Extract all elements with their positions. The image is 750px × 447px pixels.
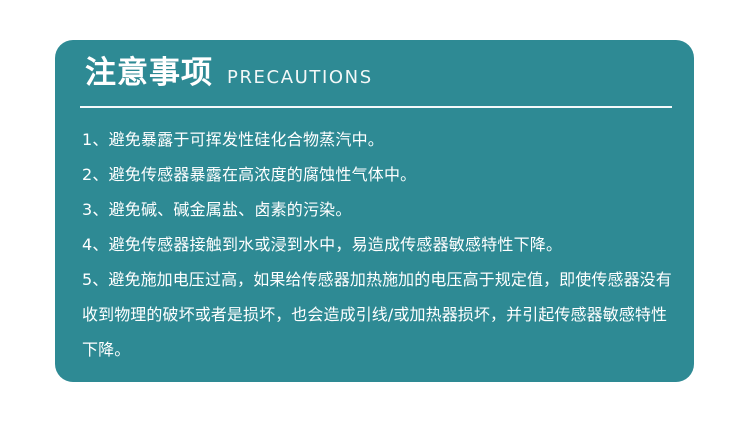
page-title: 注意事项 xyxy=(85,58,213,89)
precautions-list: 1、避免暴露于可挥发性硅化合物蒸汽中。 2、避免传感器暴露在高浓度的腐蚀性气体中… xyxy=(82,122,677,367)
list-item: 1、避免暴露于可挥发性硅化合物蒸汽中。 xyxy=(82,122,677,157)
header-divider xyxy=(80,106,672,108)
list-item: 2、避免传感器暴露在高浓度的腐蚀性气体中。 xyxy=(82,157,677,192)
page-root: 注意事项 PRECAUTIONS 1、避免暴露于可挥发性硅化合物蒸汽中。 2、避… xyxy=(0,0,750,447)
page-subtitle: PRECAUTIONS xyxy=(227,69,373,87)
precautions-card: 注意事项 PRECAUTIONS 1、避免暴露于可挥发性硅化合物蒸汽中。 2、避… xyxy=(55,40,694,382)
list-item: 5、避免施加电压过高，如果给传感器加热施加的电压高于规定值，即使传感器没有收到物… xyxy=(82,262,677,367)
list-item: 4、避免传感器接触到水或浸到水中，易造成传感器敏感特性下降。 xyxy=(82,227,677,262)
list-item: 3、避免碱、碱金属盐、卤素的污染。 xyxy=(82,192,677,227)
card-header: 注意事项 PRECAUTIONS xyxy=(85,58,373,89)
